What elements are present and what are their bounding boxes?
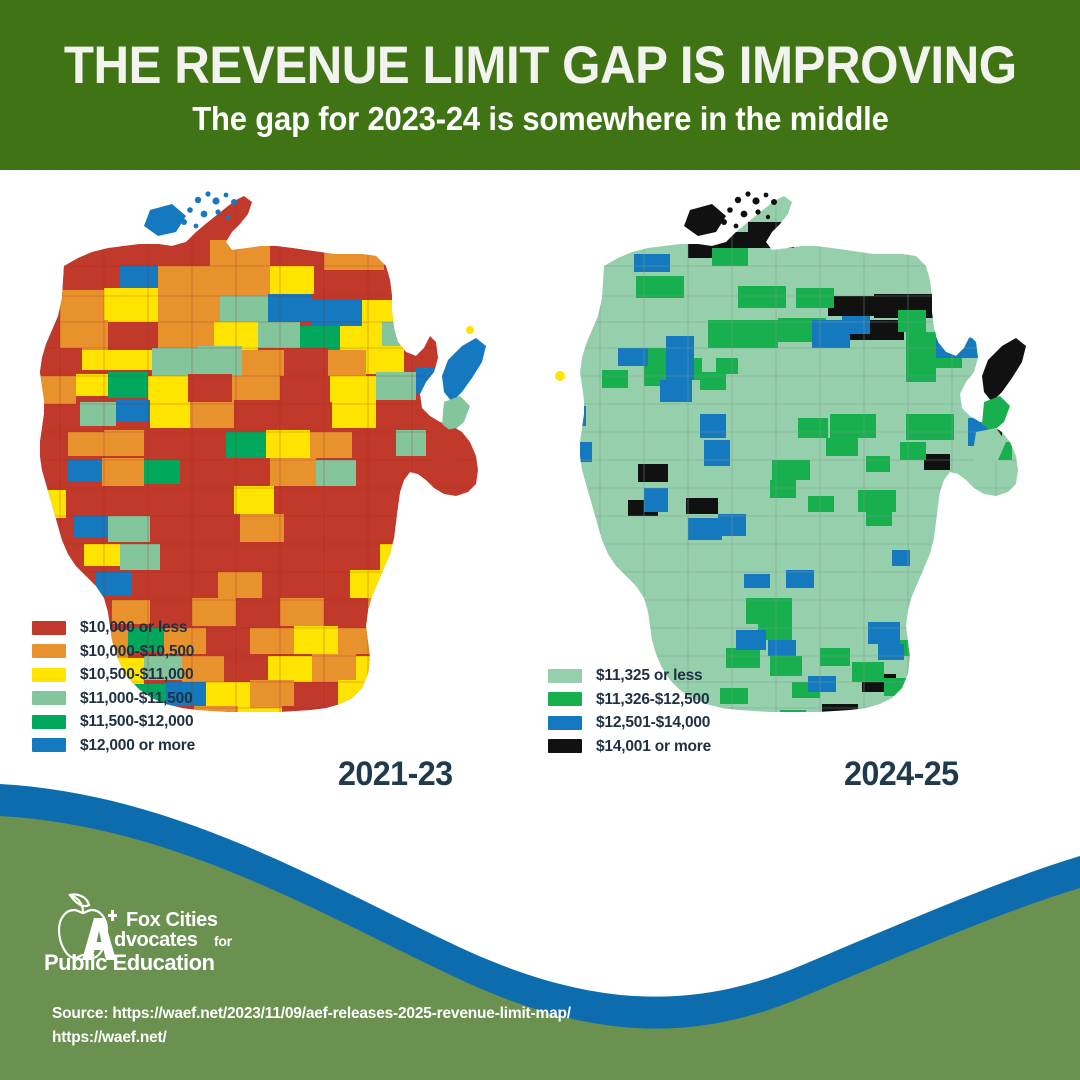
legend-label: $11,326-$12,500	[596, 692, 709, 707]
legend-label: $12,501-$14,000	[596, 715, 710, 730]
legend-label: $10,500-$11,000	[80, 667, 193, 682]
legend-label: $11,500-$12,000	[80, 714, 193, 729]
legend-swatch	[32, 621, 66, 635]
legend-swatch	[32, 738, 66, 752]
legend-item: $12,501-$14,000	[548, 715, 711, 730]
legend-2024-25: $11,325 or less $11,326-$12,500 $12,501-…	[548, 668, 711, 762]
logo-wordmark: Fox Cities dvocates for Public Education	[44, 909, 233, 975]
legend-swatch	[32, 715, 66, 729]
page-subtitle: The gap for 2023-24 is somewhere in the …	[192, 102, 888, 135]
legend-item: $14,001 or more	[548, 739, 711, 754]
header-banner: THE REVENUE LIMIT GAP IS IMPROVING The g…	[0, 0, 1080, 170]
logo-line-4: Public Education	[44, 950, 215, 975]
legend-item: $10,500-$11,000	[32, 667, 195, 682]
legend-swatch	[548, 716, 582, 730]
legend-item: $11,325 or less	[548, 668, 711, 683]
legend-swatch	[548, 669, 582, 683]
legend-label: $14,001 or more	[596, 739, 711, 754]
legend-2021-23: $10,000 or less $10,000-$10,500 $10,500-…	[32, 620, 195, 761]
fox-cities-advocates-logo: Fox Cities dvocates for Public Education	[44, 888, 294, 980]
source-line-1[interactable]: Source: https://waef.net/2023/11/09/aef-…	[52, 1002, 752, 1026]
legend-swatch	[32, 644, 66, 658]
legend-item: $11,000-$11,500	[32, 691, 195, 706]
source-line-2[interactable]: https://waef.net/	[52, 1026, 752, 1050]
legend-swatch	[32, 691, 66, 705]
legend-item: $12,000 or more	[32, 738, 195, 753]
legend-swatch	[32, 668, 66, 682]
infographic-root: THE REVENUE LIMIT GAP IS IMPROVING The g…	[0, 0, 1080, 1080]
legend-label: $10,000 or less	[80, 620, 187, 635]
map-panel-2021-23: $10,000 or less $10,000-$10,500 $10,500-…	[0, 170, 540, 790]
legend-item: $10,000 or less	[32, 620, 195, 635]
legend-label: $11,000-$11,500	[80, 691, 193, 706]
legend-item: $10,000-$10,500	[32, 644, 195, 659]
source-block: Source: https://waef.net/2023/11/09/aef-…	[52, 1002, 752, 1050]
legend-label: $10,000-$10,500	[80, 644, 194, 659]
legend-label: $11,325 or less	[596, 668, 702, 683]
door-peninsula-2021-23	[432, 326, 486, 470]
map-panel-2024-25: $11,325 or less $11,326-$12,500 $12,501-…	[540, 170, 1080, 790]
page-title: THE REVENUE LIMIT GAP IS IMPROVING	[64, 39, 1017, 92]
legend-swatch	[548, 692, 582, 706]
legend-label: $12,000 or more	[80, 738, 195, 753]
legend-item: $11,326-$12,500	[548, 692, 711, 707]
logo-line-3: for	[214, 933, 233, 949]
logo-line-1: Fox Cities	[126, 909, 218, 931]
legend-swatch	[548, 739, 582, 753]
legend-item: $11,500-$12,000	[32, 714, 195, 729]
logo-line-2: dvocates	[114, 929, 198, 951]
